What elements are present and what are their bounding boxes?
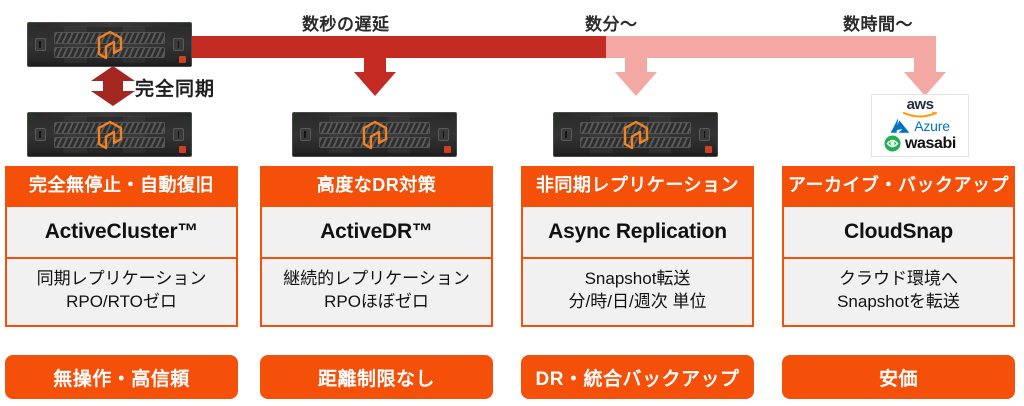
- tier-benefit-badge-activedr: 距離制限なし: [260, 355, 493, 399]
- tier-description-line-1: クラウド環境へ: [786, 268, 1011, 291]
- branch-arrowhead-async: [615, 72, 657, 96]
- wasabi-logo-icon: [884, 135, 901, 152]
- flasharray-primary: [27, 22, 192, 67]
- tier-benefit-badge-cloudsnap: 安価: [782, 355, 1015, 399]
- tier-description: 継続的レプリケーション RPOほぼゼロ: [260, 259, 493, 327]
- branch-stem-async: [625, 52, 647, 74]
- tier-product-name: ActiveCluster™: [5, 207, 238, 259]
- azure-logo-text: Azure: [914, 118, 950, 134]
- cloud-providers-card: aws Azure wasabi: [871, 94, 969, 157]
- azure-logo-row: Azure: [890, 117, 950, 135]
- pure-storage-logo-icon: [95, 119, 125, 151]
- tier-benefit-badge-async: DR・統合バックアップ: [521, 355, 754, 399]
- branch-stem-cloudsnap: [914, 52, 936, 74]
- sync-double-arrow: [91, 66, 135, 106]
- flasharray-activedr: [292, 112, 457, 157]
- tier-benefit-badge-activecluster: 無操作・高信頼: [5, 355, 238, 399]
- diagram-canvas: 数秒の遅延 数分〜 数時間〜 完全同期: [0, 0, 1024, 406]
- pure-storage-logo-icon: [360, 119, 390, 151]
- tier-category-label: 完全無停止・自動復旧: [5, 166, 238, 207]
- timing-label-hours: 数時間〜: [843, 10, 913, 35]
- flasharray-async: [553, 112, 718, 157]
- branch-arrowhead-activedr: [354, 72, 396, 96]
- sync-label: 完全同期: [135, 74, 215, 101]
- tier-category-label: 非同期レプリケーション: [521, 166, 754, 207]
- azure-logo-icon: [890, 117, 910, 134]
- tier-column-activecluster: 完全無停止・自動復旧 ActiveCluster™ 同期レプリケーション RPO…: [5, 166, 238, 327]
- timing-label-minutes: 数分〜: [585, 10, 638, 35]
- tier-description-line-2: 分/時/日/週次 単位: [525, 291, 750, 314]
- branch-arrowhead-cloudsnap: [904, 72, 946, 96]
- aws-logo-row: aws: [903, 98, 937, 116]
- tier-category-label: 高度なDR対策: [260, 166, 493, 207]
- flasharray-secondary: [27, 112, 192, 157]
- tier-description-line-2: RPOほぼゼロ: [264, 291, 489, 314]
- tier-column-activedr: 高度なDR対策 ActiveDR™ 継続的レプリケーション RPOほぼゼロ: [260, 166, 493, 327]
- flow-segment-dark: [188, 36, 606, 58]
- tier-product-name: ActiveDR™: [260, 207, 493, 259]
- tier-column-cloudsnap: アーカイブ・バックアップ CloudSnap クラウド環境へ Snapshotを…: [782, 166, 1015, 327]
- tier-description-line-1: 同期レプリケーション: [9, 268, 234, 291]
- tier-description-line-2: RPO/RTOゼロ: [9, 291, 234, 314]
- aws-logo-text: aws: [907, 97, 934, 112]
- timing-label-seconds: 数秒の遅延: [302, 10, 390, 35]
- pure-storage-logo-icon: [95, 29, 125, 61]
- tier-category-label: アーカイブ・バックアップ: [782, 166, 1015, 207]
- wasabi-logo-text: wasabi: [905, 135, 956, 153]
- tier-product-name: CloudSnap: [782, 207, 1015, 259]
- tier-description-line-1: 継続的レプリケーション: [264, 268, 489, 291]
- wasabi-logo-row: wasabi: [884, 135, 956, 153]
- tier-description: 同期レプリケーション RPO/RTOゼロ: [5, 259, 238, 327]
- tier-column-async-replication: 非同期レプリケーション Async Replication Snapshot転送…: [521, 166, 754, 327]
- tier-description: クラウド環境へ Snapshotを転送: [782, 259, 1015, 327]
- tier-product-name: Async Replication: [521, 207, 754, 259]
- pure-storage-logo-icon: [621, 119, 651, 151]
- tier-description: Snapshot転送 分/時/日/週次 単位: [521, 259, 754, 327]
- tier-description-line-2: Snapshotを転送: [786, 291, 1011, 314]
- tier-description-line-1: Snapshot転送: [525, 268, 750, 291]
- flow-segment-light: [606, 36, 936, 58]
- branch-stem-activedr: [364, 52, 386, 74]
